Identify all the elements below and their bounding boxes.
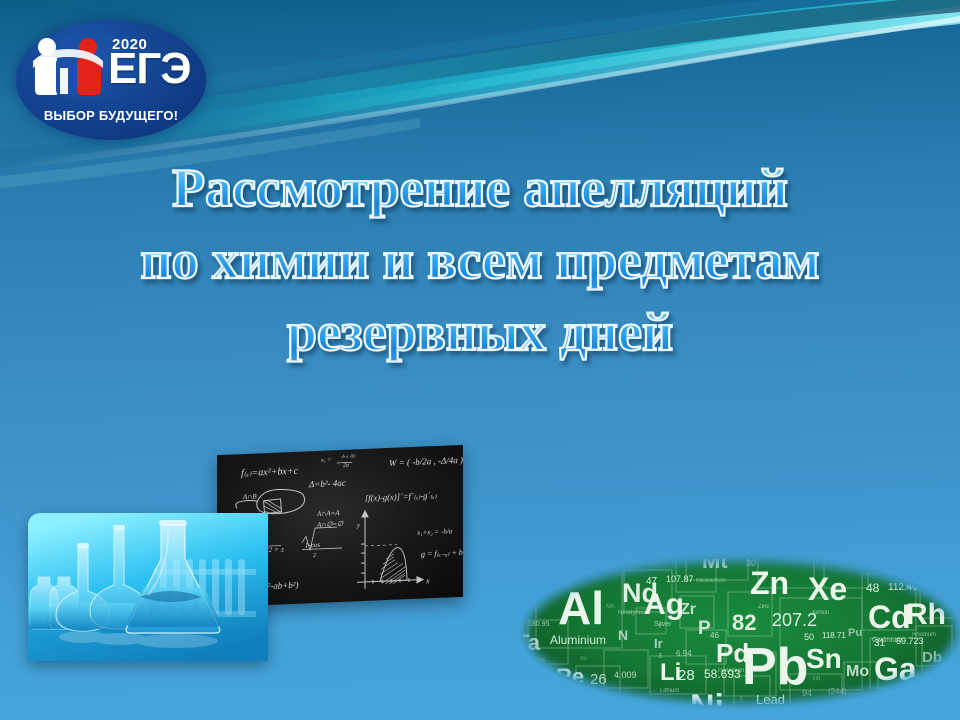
- svg-text:3: 3: [658, 653, 662, 660]
- logo-tagline: ВЫБОР БУДУЩЕГО!: [16, 108, 206, 123]
- svg-text:Rh: Rh: [906, 598, 946, 631]
- svg-text:180.95: 180.95: [528, 621, 550, 628]
- svg-text:Mo: Mo: [846, 663, 869, 680]
- svg-text:Lithium: Lithium: [660, 688, 679, 694]
- svg-text:Ir: Ir: [654, 636, 663, 651]
- svg-text:(244): (244): [828, 687, 847, 696]
- svg-text:[f(x)-g(x)]´=f´₍ₓ₎-g´₍ₓ₎: [f(x)-g(x)]´=f´₍ₓ₎-g´₍ₓ₎: [365, 490, 438, 503]
- title-line-1: Рассмотрение апелляций: [0, 152, 960, 224]
- title-line-2: по химии и всем предметам: [0, 224, 960, 296]
- svg-text:Meitnerium: Meitnerium: [696, 578, 726, 584]
- svg-text:31: 31: [874, 638, 886, 649]
- logo-three-figures-icon: [30, 34, 106, 98]
- svg-text:Aluminium: Aluminium: [550, 633, 606, 647]
- svg-text:Zn: Zn: [750, 565, 789, 601]
- svg-text:26: 26: [590, 671, 607, 688]
- svg-text:―――: ―――: [336, 460, 353, 466]
- presentation-slide: 2020 ЕГЭ ВЫБОР БУДУЩЕГО! Рассмотрение ап…: [0, 0, 960, 720]
- svg-text:102.91: 102.91: [924, 579, 949, 588]
- svg-text:Ag: Ag: [644, 588, 684, 621]
- svg-text:78: 78: [640, 705, 649, 714]
- svg-text:50: 50: [804, 632, 814, 642]
- svg-text:47: 47: [646, 576, 658, 587]
- svg-text:Sc: Sc: [580, 656, 587, 662]
- svg-text:Sn: Sn: [806, 643, 842, 674]
- ege-logo: 2020 ЕГЭ ВЫБОР БУДУЩЕГО!: [16, 20, 206, 140]
- svg-text:Al: Al: [558, 582, 604, 634]
- svg-text:2: 2: [313, 553, 316, 559]
- svg-text:48: 48: [866, 581, 880, 595]
- svg-text:A∩B: A∩B: [242, 492, 257, 501]
- svg-text:f₍ₓ₎=ax²+bx+c: f₍ₓ₎=ax²+bx+c: [241, 466, 299, 479]
- svg-text:107.87: 107.87: [666, 574, 694, 584]
- svg-text:Pu: Pu: [848, 627, 862, 639]
- svg-text:x: x: [425, 576, 430, 585]
- svg-text:Lead: Lead: [756, 692, 785, 707]
- svg-text:82: 82: [732, 610, 756, 635]
- svg-text:Ni: Ni: [690, 688, 724, 720]
- svg-text:I: I: [740, 695, 742, 704]
- svg-text:x₁ =: x₁ =: [320, 457, 331, 463]
- svg-text:Δ=b²- 4ac: Δ=b²- 4ac: [308, 478, 346, 490]
- svg-text:Palladium: Palladium: [718, 668, 744, 674]
- svg-text:g = f₍ₓ₋ₐ₎ + b: g = f₍ₓ₋ₐ₎ + b: [421, 548, 463, 559]
- svg-text:Zinc: Zinc: [758, 604, 769, 610]
- chemistry-glassware-image: [28, 513, 268, 661]
- svg-text:Zr: Zr: [680, 601, 696, 618]
- title-line-3: резервных дней: [0, 296, 960, 368]
- svg-text:V: V: [658, 624, 662, 630]
- svg-text:118.71: 118.71: [822, 631, 846, 640]
- svg-text:-b ± √D: -b ± √D: [341, 453, 356, 459]
- svg-text:W = ( -b/2a , -Δ/4a ): W = ( -b/2a , -Δ/4a ): [389, 455, 463, 468]
- svg-text:Tin: Tin: [812, 676, 820, 682]
- svg-text:28: 28: [678, 667, 695, 684]
- svg-text:Pb: Pb: [742, 638, 808, 696]
- svg-text:94: 94: [802, 688, 812, 698]
- svg-text:x₁+x₂ = -b/a: x₁+x₂ = -b/a: [416, 527, 453, 537]
- periodic-table-image: Al Aluminium Ta 180.95 Re 75 26 4.009 Nd…: [518, 552, 960, 720]
- svg-text:Silver: Silver: [654, 621, 672, 628]
- svg-text:Xe: Xe: [808, 571, 847, 607]
- svg-text:6.94: 6.94: [676, 649, 692, 658]
- svg-text:4.009: 4.009: [614, 670, 637, 680]
- slide-title: Рассмотрение апелляций по химии и всем п…: [0, 152, 960, 368]
- svg-text:y: y: [356, 522, 360, 529]
- svg-text:A∩A=A: A∩A=A: [316, 509, 340, 518]
- svg-text:Cd: Cd: [868, 599, 911, 635]
- svg-text:Xenon: Xenon: [812, 610, 829, 616]
- svg-text:207.2: 207.2: [772, 610, 817, 630]
- svg-text:Mn: Mn: [606, 604, 614, 610]
- svg-text:N: N: [618, 627, 628, 643]
- svg-text:69.723: 69.723: [896, 636, 924, 646]
- logo-acronym: ЕГЭ: [108, 47, 191, 91]
- svg-text:30: 30: [746, 558, 756, 568]
